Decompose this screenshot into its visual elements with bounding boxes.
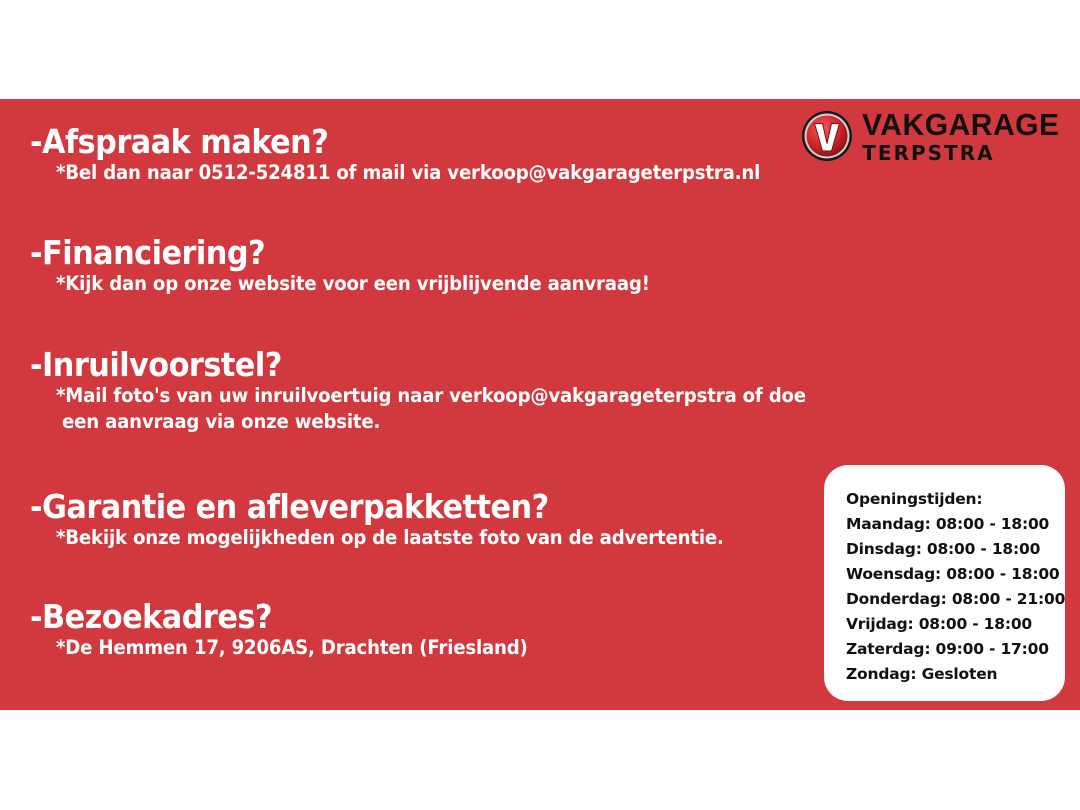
qa-line-inruilvoorstel-1: *Mail foto's van uw inruilvoertuig naar … [56, 383, 806, 409]
opening-hours-row-sunday: Zondag: Gesloten [846, 662, 1065, 687]
qa-title-bezoekadres: -Bezoekadres? [30, 599, 521, 635]
qa-title-financiering: -Financiering? [30, 235, 641, 271]
red-info-banner: VAKGARAGE TERPSTRA -Afspraak maken? *Bel… [0, 99, 1080, 710]
qa-title-afspraak: -Afspraak maken? [30, 124, 750, 160]
qa-title-inruilvoorstel: -Inruilvoorstel? [30, 347, 796, 383]
logo-brand-name: VAKGARAGE [862, 109, 1060, 140]
opening-hours-row-thursday: Donderdag: 08:00 - 21:00 [846, 587, 1065, 612]
opening-hours-heading: Openingstijden: [846, 487, 1065, 512]
qa-block-garantie: -Garantie en afleverpakketten? *Bekijk o… [30, 489, 774, 551]
qa-block-afspraak: -Afspraak maken? *Bel dan naar 0512-5248… [30, 124, 813, 186]
opening-hours-row-monday: Maandag: 08:00 - 18:00 [846, 512, 1065, 537]
opening-hours-card: Openingstijden: Maandag: 08:00 - 18:00 D… [824, 465, 1065, 701]
opening-hours-row-friday: Vrijdag: 08:00 - 18:00 [846, 612, 1065, 637]
vakgarage-logo: VAKGARAGE TERPSTRA [801, 109, 1066, 163]
qa-block-financiering: -Financiering? *Kijk dan op onze website… [30, 235, 694, 297]
qa-line-garantie-1: *Bekijk onze mogelijkheden op de laatste… [56, 525, 724, 551]
qa-line-inruilvoorstel-2: een aanvraag via onze website. [62, 409, 806, 435]
qa-block-bezoekadres: -Bezoekadres? *De Hemmen 17, 9206AS, Dra… [30, 599, 563, 661]
qa-title-garantie: -Garantie en afleverpakketten? [30, 489, 714, 525]
opening-hours-row-saturday: Zaterdag: 09:00 - 17:00 [846, 637, 1065, 662]
opening-hours-row-wednesday: Woensdag: 08:00 - 18:00 [846, 562, 1065, 587]
qa-line-financiering-1: *Kijk dan op onze website voor een vrijb… [56, 271, 650, 297]
qa-line-afspraak-1: *Bel dan naar 0512-524811 of mail via ve… [56, 160, 760, 186]
logo-dealer-name: TERPSTRA [862, 143, 994, 163]
qa-line-bezoekadres-1: *De Hemmen 17, 9206AS, Drachten (Friesla… [56, 635, 528, 661]
logo-wordmark: VAKGARAGE TERPSTRA [862, 109, 1066, 163]
opening-hours-row-tuesday: Dinsdag: 08:00 - 18:00 [846, 537, 1065, 562]
advertisement-canvas: VAKGARAGE TERPSTRA -Afspraak maken? *Bel… [0, 0, 1080, 810]
qa-block-inruilvoorstel: -Inruilvoorstel? *Mail foto's van uw inr… [30, 347, 862, 435]
